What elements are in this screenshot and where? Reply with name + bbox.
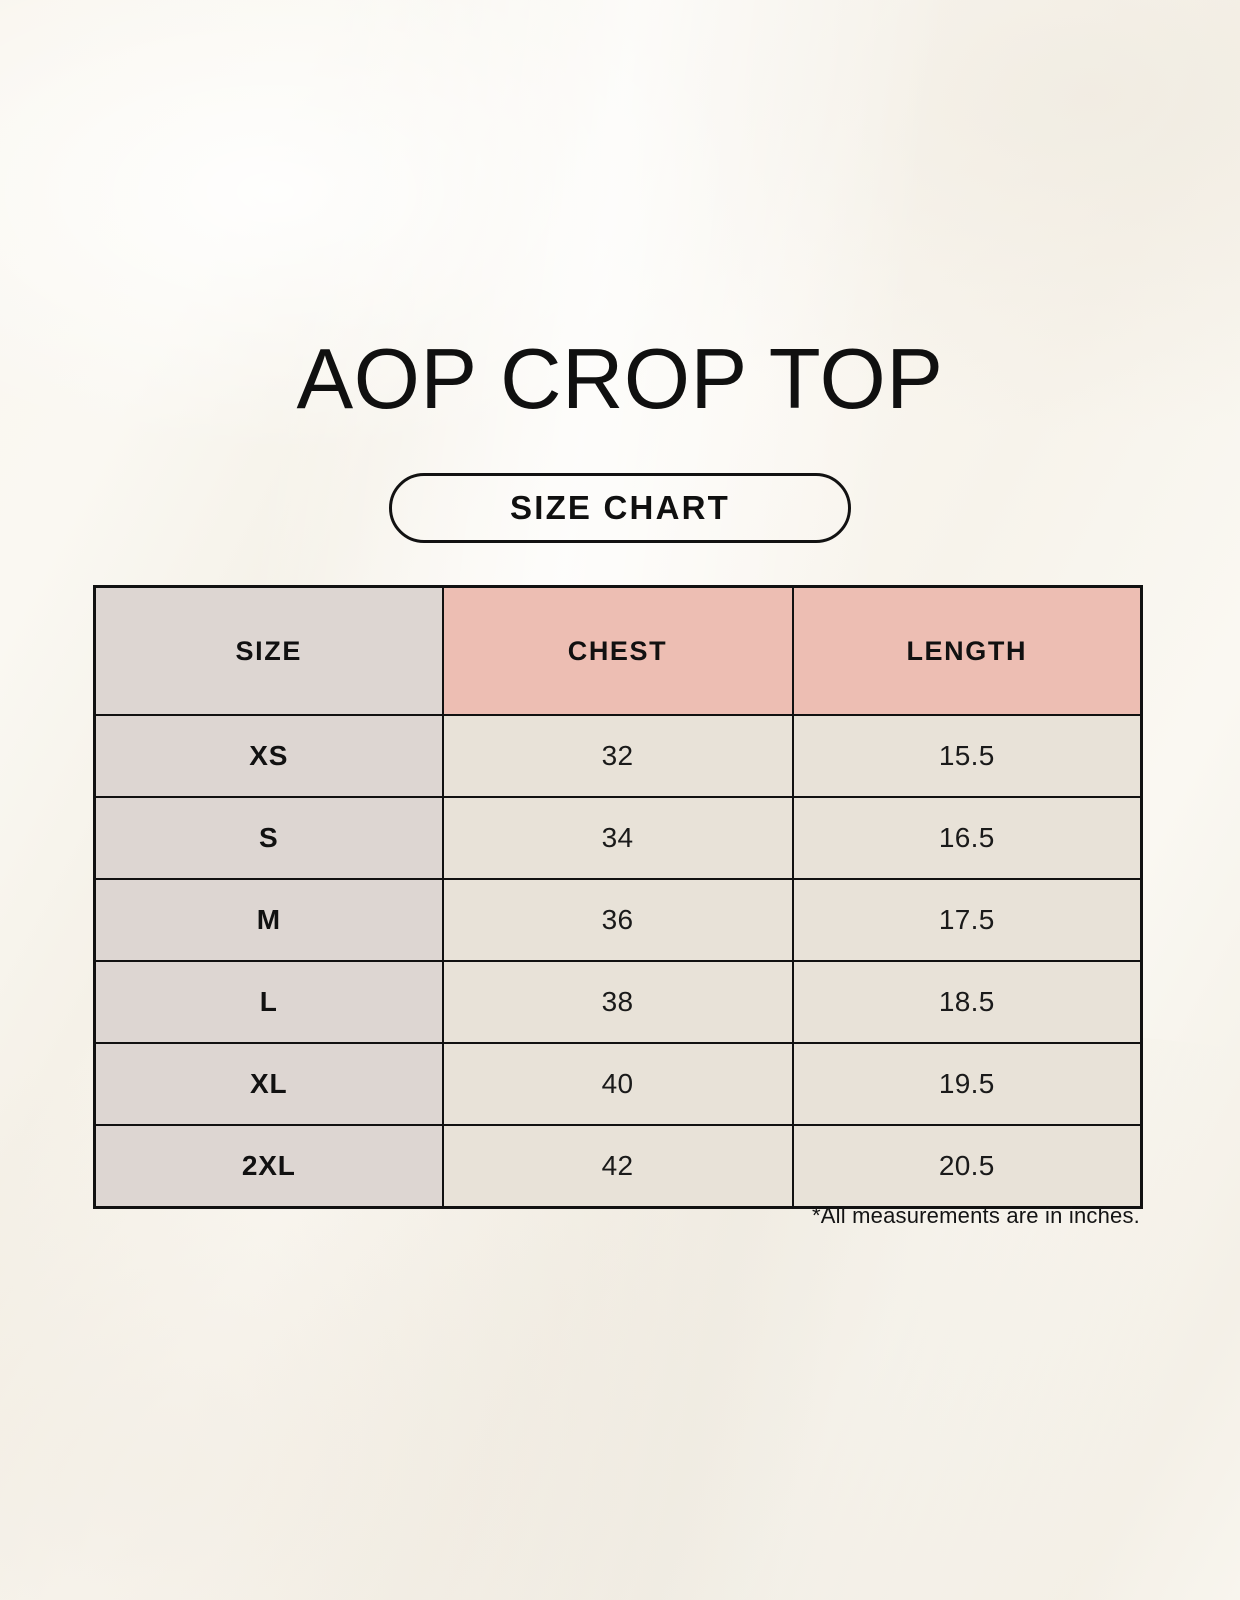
size-chart-badge-wrap: SIZE CHART (0, 473, 1240, 543)
cell-chest: 38 (443, 961, 793, 1043)
cell-size: L (95, 961, 443, 1043)
size-table-head: SIZE CHEST LENGTH (95, 587, 1142, 716)
cell-chest: 40 (443, 1043, 793, 1125)
cell-chest: 32 (443, 715, 793, 797)
table-row: XL 40 19.5 (95, 1043, 1142, 1125)
size-chart-badge: SIZE CHART (389, 473, 851, 543)
cell-length: 16.5 (793, 797, 1142, 879)
cell-length: 20.5 (793, 1125, 1142, 1208)
table-row: M 36 17.5 (95, 879, 1142, 961)
page-title: AOP CROP TOP (0, 337, 1240, 422)
cell-chest: 34 (443, 797, 793, 879)
table-row: S 34 16.5 (95, 797, 1142, 879)
table-row: 2XL 42 20.5 (95, 1125, 1142, 1208)
cell-length: 15.5 (793, 715, 1142, 797)
cell-size: XL (95, 1043, 443, 1125)
cell-length: 18.5 (793, 961, 1142, 1043)
cell-size: 2XL (95, 1125, 443, 1208)
column-header-size: SIZE (95, 587, 443, 716)
cell-size: M (95, 879, 443, 961)
column-header-chest: CHEST (443, 587, 793, 716)
measurement-units-note: *All measurements are in inches. (93, 1203, 1140, 1229)
table-row: XS 32 15.5 (95, 715, 1142, 797)
size-table-wrap: SIZE CHEST LENGTH XS 32 15.5 S 34 16.5 (93, 585, 1140, 1209)
size-table-body: XS 32 15.5 S 34 16.5 M 36 17.5 (95, 715, 1142, 1208)
size-table: SIZE CHEST LENGTH XS 32 15.5 S 34 16.5 (93, 585, 1143, 1209)
cell-size: S (95, 797, 443, 879)
table-row: L 38 18.5 (95, 961, 1142, 1043)
cell-length: 17.5 (793, 879, 1142, 961)
size-chart-page: AOP CROP TOP SIZE CHART SIZE CHEST LENGT… (0, 0, 1240, 1600)
table-header-row: SIZE CHEST LENGTH (95, 587, 1142, 716)
cell-chest: 36 (443, 879, 793, 961)
cell-length: 19.5 (793, 1043, 1142, 1125)
column-header-length: LENGTH (793, 587, 1142, 716)
cell-size: XS (95, 715, 443, 797)
cell-chest: 42 (443, 1125, 793, 1208)
